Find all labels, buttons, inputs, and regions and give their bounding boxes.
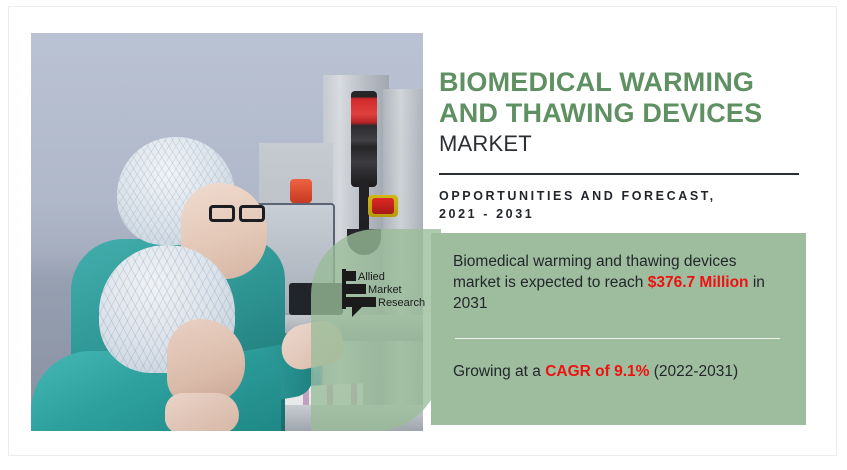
market-size-statement: Biomedical warming and thawing devices m… [453, 251, 782, 314]
logo-line-2: Market [368, 284, 402, 296]
cagr-prefix: Growing at a [453, 363, 545, 380]
page-subtitle: MARKET [439, 131, 799, 157]
forecast-label: OPPORTUNITIES AND FORECAST, 2021 - 2031 [439, 187, 799, 223]
stats-panel: Biomedical warming and thawing devices m… [431, 233, 806, 425]
cagr-value: CAGR of 9.1% [545, 363, 649, 380]
logo-line-3: Research [378, 297, 425, 309]
header-divider [439, 173, 799, 175]
green-overlay-wing [311, 229, 441, 431]
page-title-line-1: BIOMEDICAL WARMING [439, 67, 754, 97]
page-title: BIOMEDICAL WARMING AND THAWING DEVICES [439, 67, 799, 129]
forecast-line-2: 2021 - 2031 [439, 207, 534, 221]
forecast-line-1: OPPORTUNITIES AND FORECAST, [439, 189, 716, 203]
cagr-suffix: (2022-2031) [649, 363, 738, 380]
cagr-statement: Growing at a CAGR of 9.1% (2022-2031) [453, 361, 782, 382]
header-block: BIOMEDICAL WARMING AND THAWING DEVICES M… [439, 67, 799, 223]
page-title-line-2: AND THAWING DEVICES [439, 98, 762, 128]
infographic-card: Allied Market Research BIOMEDICAL WARMIN… [8, 6, 837, 456]
stats-divider [455, 338, 780, 339]
logo-line-1: Allied [358, 271, 385, 283]
market-size-value: $376.7 Million [648, 274, 749, 291]
allied-market-research-logo: Allied Market Research [342, 269, 428, 317]
